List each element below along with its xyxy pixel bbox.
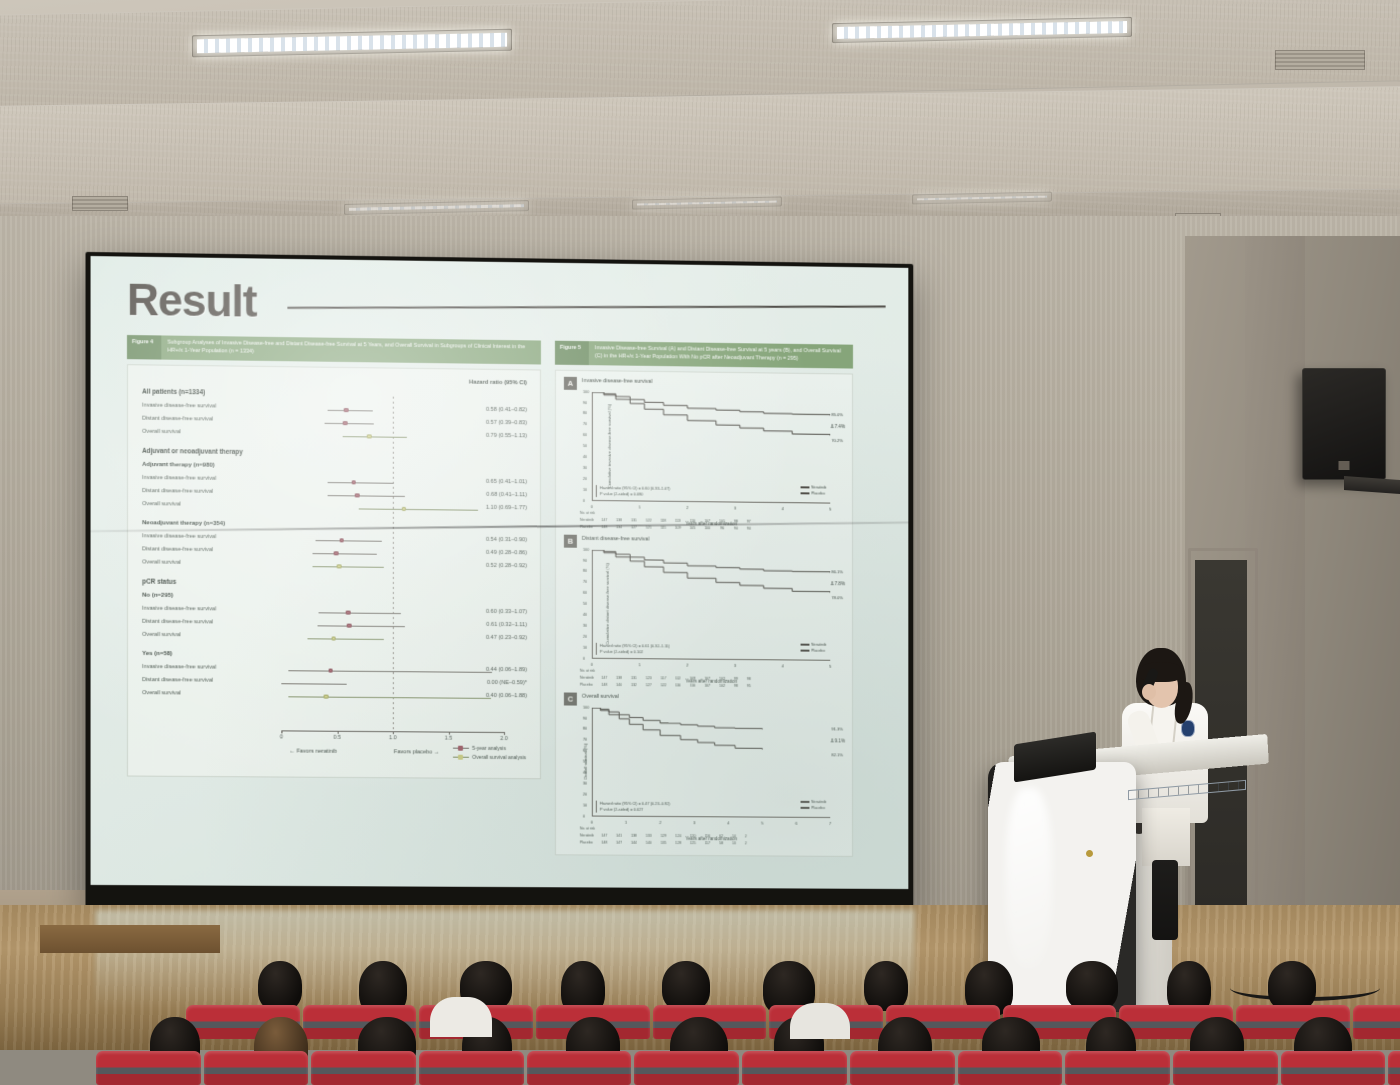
km-delta-label: Δ 7.4%: [831, 424, 845, 429]
forest-row-label: Overall survival: [142, 690, 181, 696]
km-x-tick-label: 2: [686, 662, 688, 667]
forest-axis-tick-label: 1.0: [389, 735, 397, 741]
forest-row-label: Distant disease-free survival: [142, 618, 213, 625]
forest-row-label: Distant disease-free survival: [142, 546, 213, 553]
km-legend: NeratinibPlacebo: [800, 799, 826, 812]
audience-seat-row: [96, 1051, 1400, 1085]
audience-seat: [1388, 1051, 1400, 1085]
km-x-tick-label: 1: [625, 819, 627, 824]
audience-seat: [419, 1051, 524, 1085]
legend-label-5year: 5-year analysis: [472, 745, 506, 751]
km-panel-title: Overall survival: [582, 693, 619, 699]
figure5-column: Figure 5 Invasive Disease-free Survival …: [555, 341, 853, 857]
forest-point-estimate: [339, 538, 344, 543]
audience-seat: [1281, 1051, 1386, 1085]
forest-confidence-interval: [327, 482, 394, 484]
forest-axis-tick-label: 0.5: [333, 734, 341, 740]
km-legend: NeratinibPlacebo: [800, 641, 826, 654]
forest-axis-tick-label: 1.5: [445, 735, 453, 741]
km-y-tick-label: 50: [583, 760, 587, 764]
forest-hazard-ratio-value: 0.44 (0.06–1.89): [486, 667, 527, 673]
forest-axis-tick: [337, 730, 338, 733]
forest-row-label: Invasive disease-free survival: [142, 605, 216, 612]
km-y-tick-label: 60: [583, 433, 587, 437]
forest-group-heading: Adjuvant or neoadjuvant therapy: [140, 447, 530, 463]
km-upper-endpoint-label: 85.0%: [831, 412, 843, 417]
ceiling-air-vent: [72, 196, 128, 211]
audience-member-head: [1066, 961, 1118, 1011]
km-panel-a: AInvasive disease-free survivalCumulativ…: [562, 376, 846, 533]
forest-point-estimate: [324, 694, 329, 699]
km-y-tick-label: 30: [583, 781, 587, 785]
forest-hazard-ratio-value: 0.57 (0.39–0.83): [486, 419, 527, 425]
km-delta-label: Δ 7.8%: [831, 581, 845, 586]
km-y-tick-label: 100: [583, 547, 589, 551]
km-delta-label: Δ 9.1%: [831, 738, 845, 743]
km-y-tick-label: 20: [583, 477, 587, 481]
forest-hazard-ratio-value: 0.00 (NE–0.59)*: [487, 680, 527, 686]
forest-hazard-ratio-value: 0.47 (0.23–0.92): [486, 635, 527, 641]
forest-axis-tick: [448, 731, 449, 734]
km-x-tick-label: 0: [591, 504, 593, 509]
km-x-tick-label: 1: [639, 662, 641, 667]
audience-seat: [958, 1051, 1063, 1085]
km-y-tick-label: 60: [583, 591, 587, 595]
forest-row-label: Overall survival: [142, 631, 181, 637]
km-upper-endpoint-label: 86.1%: [831, 569, 843, 574]
km-pvalue-annotation: P value (2-sided) = 0.080: [600, 491, 670, 498]
forest-point-estimate: [334, 551, 339, 556]
km-y-axis-label: Cumulative invasive disease-free surviva…: [607, 404, 612, 488]
audience-seat: [1173, 1051, 1278, 1085]
ceiling: [0, 0, 1400, 232]
km-x-tick-label: 4: [782, 506, 784, 511]
forest-confidence-interval: [325, 423, 374, 425]
figure5-label: Figure 5: [555, 341, 589, 365]
forest-legend: 5-year analysis Overall survival analysi…: [453, 745, 526, 764]
figure5-panels: AInvasive disease-free survivalCumulativ…: [555, 369, 853, 856]
km-x-tick-label: 0: [591, 819, 593, 824]
presenter-skirt: [1142, 808, 1190, 866]
projected-slide: Result Figure 4 Subgroup Analyses of Inv…: [91, 256, 909, 889]
forest-group-heading: pCR status: [140, 578, 530, 593]
figure4-column: Figure 4 Subgroup Analyses of Invasive D…: [127, 335, 541, 855]
km-x-tick-label: 3: [693, 820, 695, 825]
forest-axis-tick-label: 2.0: [500, 736, 507, 742]
forest-confidence-interval: [288, 670, 492, 673]
forest-row: Invasive disease-free survival0.60 (0.33…: [140, 605, 530, 620]
km-x-tick-label: 0: [591, 661, 593, 666]
km-legend-label: Neratinib: [811, 800, 826, 804]
km-y-tick-label: 100: [583, 390, 589, 394]
km-panel-tag: A: [564, 376, 577, 389]
forest-confidence-interval: [313, 566, 384, 568]
km-y-tick-label: 60: [583, 749, 587, 753]
forest-plot: Hazard ratio (95% CI) ← Favors neratinib…: [140, 375, 530, 772]
forest-row-label: Distant disease-free survival: [142, 415, 213, 422]
lecture-hall-scene: Result Figure 4 Subgroup Analyses of Inv…: [0, 0, 1400, 1050]
forest-row: Distant disease-free survival0.61 (0.32–…: [140, 618, 530, 633]
km-x-tick-label: 1: [639, 504, 641, 509]
km-legend-label: Neratinib: [811, 642, 826, 646]
km-y-axis-label: Cumulative distant disease-free survival…: [605, 563, 610, 645]
figure4-plot-box: Hazard ratio (95% CI) ← Favors neratinib…: [127, 364, 541, 779]
km-y-tick-label: 50: [583, 444, 587, 448]
forest-confidence-interval: [313, 553, 378, 555]
forest-point-estimate: [347, 623, 352, 628]
km-legend: NeratinibPlacebo: [800, 484, 826, 497]
forest-axis-tick-label: 0: [280, 734, 283, 740]
audience-seat: [311, 1051, 416, 1085]
audience-member-shirt: [790, 1003, 850, 1039]
forest-row-label: Overall survival: [142, 559, 181, 565]
forest-confidence-interval: [316, 540, 382, 542]
forest-row-label: Invasive disease-free survival: [142, 533, 216, 540]
km-statistics-box: Hazard ratio (95% CI) = 0.47 (0.23–0.92)…: [596, 801, 670, 813]
audience-seat: [204, 1051, 309, 1085]
km-y-tick-label: 90: [583, 401, 587, 405]
favors-neratinib-label: ← Favors neratinib: [289, 748, 337, 754]
km-y-tick-label: 50: [583, 602, 587, 606]
km-panel-c: COverall survivalOverall survival (%)Yea…: [562, 692, 846, 847]
forest-point-estimate: [355, 493, 360, 498]
forest-group-heading: All patients (n=1334): [140, 388, 530, 404]
km-y-tick-label: 10: [583, 803, 587, 807]
km-panel-tag: C: [564, 692, 577, 705]
hazard-ratio-header: Hazard ratio (95% CI): [469, 379, 527, 386]
km-x-tick-label: 2: [659, 820, 661, 825]
km-pvalue-annotation: P value (2-sided) = 0.102: [600, 649, 670, 655]
audience-seat: [742, 1051, 847, 1085]
forest-subgroup-heading: No (n=295): [140, 592, 530, 607]
km-lower-endpoint-label: 70.2%: [831, 438, 843, 443]
audience-member-head: [258, 961, 302, 1011]
forest-confidence-interval: [327, 410, 373, 412]
forest-point-estimate: [328, 668, 333, 673]
km-panel-title: Distant disease-free survival: [582, 535, 649, 542]
forest-hazard-ratio-value: 0.52 (0.28–0.92): [486, 562, 527, 568]
forest-confidence-interval: [317, 625, 405, 627]
forest-confidence-interval: [327, 495, 405, 497]
forest-axis-tick: [504, 732, 505, 735]
forest-point-estimate: [343, 421, 348, 426]
forest-row-label: Invasive disease-free survival: [142, 664, 216, 671]
km-statistics-box: Hazard ratio (95% CI) = 0.61 (0.32–1.11)…: [596, 643, 670, 655]
km-x-tick-label: 6: [795, 820, 797, 825]
km-x-tick-label: 5: [761, 820, 763, 825]
forest-hazard-ratio-value: 0.40 (0.06–1.88): [486, 693, 527, 699]
audience-seat: [1065, 1051, 1170, 1085]
km-y-tick-label: 80: [583, 411, 587, 415]
forest-row-label: Distant disease-free survival: [142, 677, 213, 684]
forest-confidence-interval: [288, 696, 491, 699]
km-y-tick-label: 20: [583, 792, 587, 796]
km-x-tick-label: 2: [686, 505, 688, 510]
km-numbers-at-risk-table: No. at riskNeratinib14713813112211811311…: [578, 509, 756, 534]
projection-screen-frame: Result Figure 4 Subgroup Analyses of Inv…: [85, 252, 913, 915]
presenter-legs: [1152, 860, 1178, 940]
km-panel-title: Invasive disease-free survival: [582, 378, 652, 385]
km-y-tick-label: 90: [583, 558, 587, 562]
km-y-tick-label: 40: [583, 613, 587, 617]
forest-hazard-ratio-value: 0.49 (0.28–0.86): [486, 549, 527, 555]
km-y-tick-label: 40: [583, 771, 587, 775]
forest-point-estimate: [367, 434, 372, 439]
km-x-tick-label: 4: [782, 663, 784, 668]
forest-hazard-ratio-value: 1.10 (0.69–1.77): [486, 504, 527, 510]
forest-row-label: Overall survival: [142, 501, 181, 507]
km-y-tick-label: 70: [583, 422, 587, 426]
km-x-tick-label: 3: [734, 663, 736, 668]
figure4-caption-bar: Figure 4 Subgroup Analyses of Invasive D…: [127, 335, 541, 364]
audience-seat: [634, 1051, 739, 1085]
forest-hazard-ratio-value: 0.65 (0.41–1.01): [486, 478, 527, 484]
forest-point-estimate: [346, 610, 351, 615]
ceiling-air-vent: [1275, 50, 1365, 70]
forest-axis-tick: [281, 730, 282, 733]
figure5-caption: Invasive Disease-free Survival (A) and D…: [589, 341, 853, 368]
forest-row: Overall survival0.79 (0.55–1.13): [140, 428, 530, 444]
km-lower-endpoint-label: 82.1%: [831, 753, 843, 758]
forest-hazard-ratio-value: 0.58 (0.41–0.82): [486, 406, 527, 413]
km-plot-area: Cumulative distant disease-free survival…: [592, 550, 830, 661]
forest-hazard-ratio-value: 0.79 (0.55–1.13): [486, 432, 527, 438]
km-y-tick-label: 20: [583, 635, 587, 639]
km-x-tick-label: 7: [829, 821, 831, 826]
km-y-tick-label: 30: [583, 466, 587, 470]
forest-row-label: Distant disease-free survival: [142, 488, 213, 495]
km-panel-b: BDistant disease-free survivalCumulative…: [562, 534, 846, 690]
forest-confidence-interval: [281, 683, 347, 685]
km-statistics-box: Hazard ratio (95% CI) = 0.60 (0.33–1.07)…: [596, 485, 670, 498]
forest-axis-tick: [393, 731, 394, 734]
forest-confidence-interval: [358, 508, 478, 510]
legend-label-os: Overall survival analysis: [472, 754, 526, 760]
km-y-tick-label: 30: [583, 624, 587, 628]
audience-member-head: [662, 961, 710, 1011]
forest-row-label: Invasive disease-free survival: [142, 402, 216, 409]
audience-seat: [527, 1051, 632, 1085]
forest-row: Invasive disease-free survival0.44 (0.06…: [140, 664, 530, 678]
forest-point-estimate: [352, 480, 357, 485]
forest-row: Overall survival0.52 (0.28–0.92): [140, 559, 530, 574]
km-plot-area: Cumulative invasive disease-free surviva…: [592, 392, 830, 503]
km-y-tick-label: 10: [583, 488, 587, 492]
forest-subgroup-heading: Yes (n=58): [140, 651, 530, 665]
favors-placebo-label: Favors placebo →: [394, 749, 440, 755]
km-panel-tag: B: [564, 534, 577, 547]
audience-seating: [0, 955, 1400, 1050]
audience-member-shirt: [430, 997, 492, 1037]
km-y-tick-label: 0: [583, 814, 585, 818]
km-y-tick-label: 10: [583, 645, 587, 649]
km-legend-label: Placebo: [811, 649, 825, 653]
projection-screen: Result Figure 4 Subgroup Analyses of Inv…: [91, 256, 909, 889]
wall-loudspeaker: [1302, 368, 1386, 480]
km-x-tick-label: 4: [727, 820, 729, 825]
audience-member-head: [1268, 961, 1316, 1011]
km-legend-label: Placebo: [811, 806, 825, 810]
km-x-tick-label: 3: [734, 505, 736, 510]
km-y-tick-label: 40: [583, 455, 587, 459]
audience-seat: [1353, 1005, 1400, 1039]
forest-point-estimate: [402, 507, 407, 512]
km-y-tick-label: 70: [583, 738, 587, 742]
forest-hazard-ratio-value: 0.54 (0.31–0.90): [486, 536, 527, 542]
figure5-caption-bar: Figure 5 Invasive Disease-free Survival …: [555, 341, 853, 369]
km-pvalue-annotation: P value (2-sided) = 0.027: [600, 806, 670, 812]
audience-seat: [850, 1051, 955, 1085]
podium-indicator-light: [1086, 850, 1093, 857]
forest-point-estimate: [332, 636, 337, 641]
km-numbers-at-risk-table: No. at riskNeratinib14714113813312912412…: [578, 824, 752, 849]
km-y-tick-label: 0: [583, 656, 585, 660]
forest-row: Overall survival0.40 (0.06–1.88): [140, 690, 530, 704]
km-plot-area: Overall survival (%)Years after randomiz…: [592, 707, 830, 817]
km-upper-endpoint-label: 91.3%: [831, 727, 843, 732]
forest-point-estimate: [344, 408, 349, 413]
audience-seat: [96, 1051, 201, 1085]
forest-row-label: Overall survival: [142, 428, 181, 434]
km-y-tick-label: 90: [583, 716, 587, 720]
audience-member-head: [864, 961, 908, 1011]
km-y-tick-label: 80: [583, 727, 587, 731]
km-legend-label: Neratinib: [811, 485, 826, 489]
forest-confidence-interval: [343, 436, 408, 438]
km-y-tick-label: 70: [583, 580, 587, 584]
forest-hazard-ratio-value: 0.60 (0.33–1.07): [486, 609, 527, 615]
forest-confidence-interval: [307, 638, 384, 640]
forest-hazard-ratio-value: 0.68 (0.41–1.11): [486, 491, 527, 497]
km-legend-label: Placebo: [811, 492, 825, 496]
presenter-hand: [1142, 684, 1156, 700]
km-numbers-at-risk-table: No. at riskNeratinib14713813112311711210…: [578, 667, 756, 692]
forest-row: Overall survival0.47 (0.23–0.92): [140, 631, 530, 645]
km-lower-endpoint-label: 78.0%: [831, 595, 843, 600]
stage-edge-trim: [40, 925, 220, 953]
figure4-caption: Subgroup Analyses of Invasive Disease-fr…: [161, 335, 541, 364]
forest-row-label: Invasive disease-free survival: [142, 475, 216, 482]
forest-hazard-ratio-value: 0.61 (0.32–1.11): [486, 622, 527, 628]
forest-point-estimate: [337, 564, 342, 569]
km-x-tick-label: 5: [829, 663, 831, 668]
km-y-tick-label: 100: [583, 705, 589, 709]
forest-confidence-interval: [318, 612, 400, 614]
figure4-label: Figure 4: [127, 335, 161, 359]
forest-row: Distant disease-free survival0.00 (NE–0.…: [140, 677, 530, 691]
km-y-tick-label: 80: [583, 569, 587, 573]
forest-row: Overall survival1.10 (0.69–1.77): [140, 501, 530, 516]
km-x-tick-label: 5: [829, 506, 831, 511]
km-y-tick-label: 0: [583, 499, 585, 503]
